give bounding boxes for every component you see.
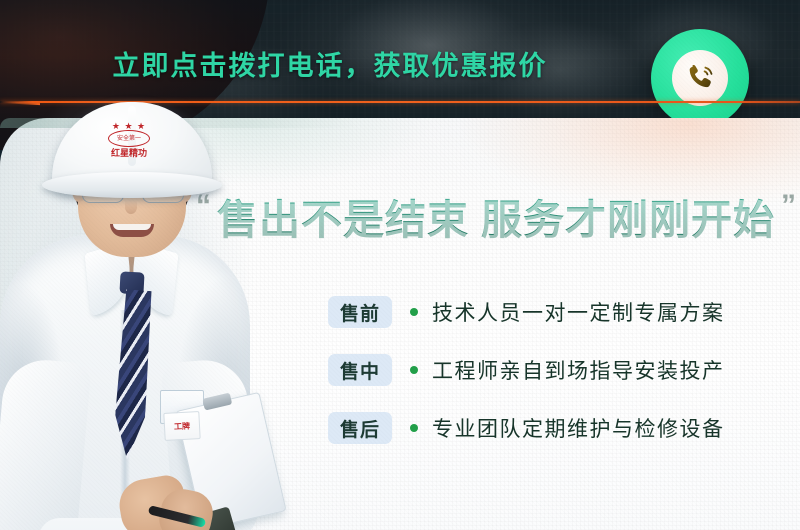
smile-mouth <box>110 224 154 237</box>
stage-badge-aftersale: 售后 <box>328 412 392 444</box>
engineer-photo: ★ ★ ★ 安全第一 红星精功 工牌 <box>0 60 264 530</box>
bullet-dot-icon <box>410 308 418 316</box>
feature-row: 售中 工程师亲自到场指导安装投产 <box>328 354 725 386</box>
left-arm <box>0 357 92 530</box>
quote-close-icon: ” <box>781 191 796 221</box>
promo-banner: 立即点击拨打电话，获取优惠报价 <box>0 0 800 530</box>
feature-row: 售前 技术人员一对一定制专属方案 <box>328 296 725 328</box>
main-headline: “ 售出不是结束 服务才刚刚开始 ” <box>196 186 788 246</box>
feature-list: 售前 技术人员一对一定制专属方案 售中 工程师亲自到场指导安装投产 售后 专业团… <box>328 296 725 444</box>
feature-text-duringsale: 工程师亲自到场指导安装投产 <box>432 355 725 385</box>
bullet-dot-icon <box>410 366 418 374</box>
nose <box>125 200 137 214</box>
helmet-logo-ring-text: 安全第一 <box>117 136 141 142</box>
call-now-button[interactable] <box>651 29 749 127</box>
employee-id-badge-text: 工牌 <box>174 420 191 432</box>
feature-text-presale: 技术人员一对一定制专属方案 <box>432 297 725 327</box>
stage-badge-duringsale: 售中 <box>328 354 392 386</box>
helmet-logo-brand: 红星精功 <box>111 149 147 158</box>
bullet-dot-icon <box>410 424 418 432</box>
quote-open-icon: “ <box>196 191 211 221</box>
helmet-brim <box>42 172 222 198</box>
teeth <box>113 224 151 230</box>
employee-id-badge: 工牌 <box>163 411 200 441</box>
phone-icon <box>672 50 728 106</box>
helmet-logo-ring: 安全第一 <box>108 130 150 147</box>
feature-text-aftersale: 专业团队定期维护与检修设备 <box>432 413 725 443</box>
main-headline-part1: 售出不是结束 <box>217 186 469 246</box>
main-headline-part2: 服务才刚刚开始 <box>481 186 775 246</box>
feature-row: 售后 专业团队定期维护与检修设备 <box>328 412 725 444</box>
stage-badge-presale: 售前 <box>328 296 392 328</box>
helmet-logo: ★ ★ ★ 安全第一 红星精功 <box>98 122 160 158</box>
